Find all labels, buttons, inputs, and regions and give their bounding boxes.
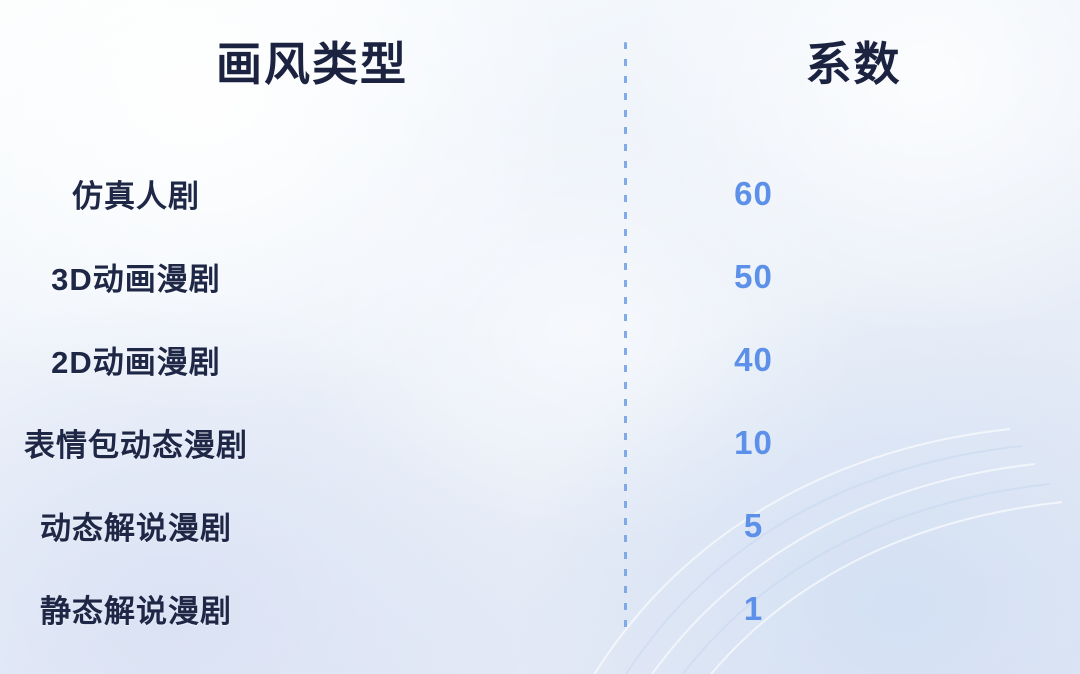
coefficient-column: 系数 60 50 40 10 5 1 bbox=[627, 0, 1080, 674]
category-column: 画风类型 仿真人剧 3D动画漫剧 2D动画漫剧 表情包动态漫剧 动态解说漫剧 bbox=[0, 0, 624, 674]
table-row: 40 bbox=[627, 318, 1080, 401]
coefficient-cell-list: 60 50 40 10 5 1 bbox=[627, 152, 1080, 650]
cell-coefficient: 50 bbox=[734, 258, 773, 296]
table-row: 2D动画漫剧 bbox=[0, 318, 624, 401]
category-cell-list: 仿真人剧 3D动画漫剧 2D动画漫剧 表情包动态漫剧 动态解说漫剧 静态解说漫剧 bbox=[0, 152, 624, 650]
cell-coefficient: 1 bbox=[744, 590, 763, 628]
cell-category: 2D动画漫剧 bbox=[51, 337, 221, 382]
table-row: 3D动画漫剧 bbox=[0, 235, 624, 318]
table-row: 仿真人剧 bbox=[0, 152, 624, 235]
cell-coefficient: 40 bbox=[734, 341, 773, 379]
coefficient-table-slide: 画风类型 仿真人剧 3D动画漫剧 2D动画漫剧 表情包动态漫剧 动态解说漫剧 bbox=[0, 0, 1080, 674]
table-row: 50 bbox=[627, 235, 1080, 318]
cell-category: 静态解说漫剧 bbox=[40, 586, 232, 631]
table-row: 表情包动态漫剧 bbox=[0, 401, 624, 484]
cell-category: 仿真人剧 bbox=[72, 171, 200, 216]
table-row: 1 bbox=[627, 567, 1080, 650]
table-row: 动态解说漫剧 bbox=[0, 484, 624, 567]
cell-category: 3D动画漫剧 bbox=[51, 254, 221, 299]
cell-coefficient: 10 bbox=[734, 424, 773, 462]
cell-coefficient: 5 bbox=[744, 507, 763, 545]
table-row: 5 bbox=[627, 484, 1080, 567]
table-row: 10 bbox=[627, 401, 1080, 484]
table-row: 60 bbox=[627, 152, 1080, 235]
table-row: 静态解说漫剧 bbox=[0, 567, 624, 650]
cell-coefficient: 60 bbox=[734, 175, 773, 213]
coefficient-table: 画风类型 仿真人剧 3D动画漫剧 2D动画漫剧 表情包动态漫剧 动态解说漫剧 bbox=[0, 0, 1080, 674]
cell-category: 表情包动态漫剧 bbox=[24, 420, 248, 465]
cell-category: 动态解说漫剧 bbox=[40, 503, 232, 548]
header-coefficient: 系数 bbox=[627, 36, 1080, 94]
